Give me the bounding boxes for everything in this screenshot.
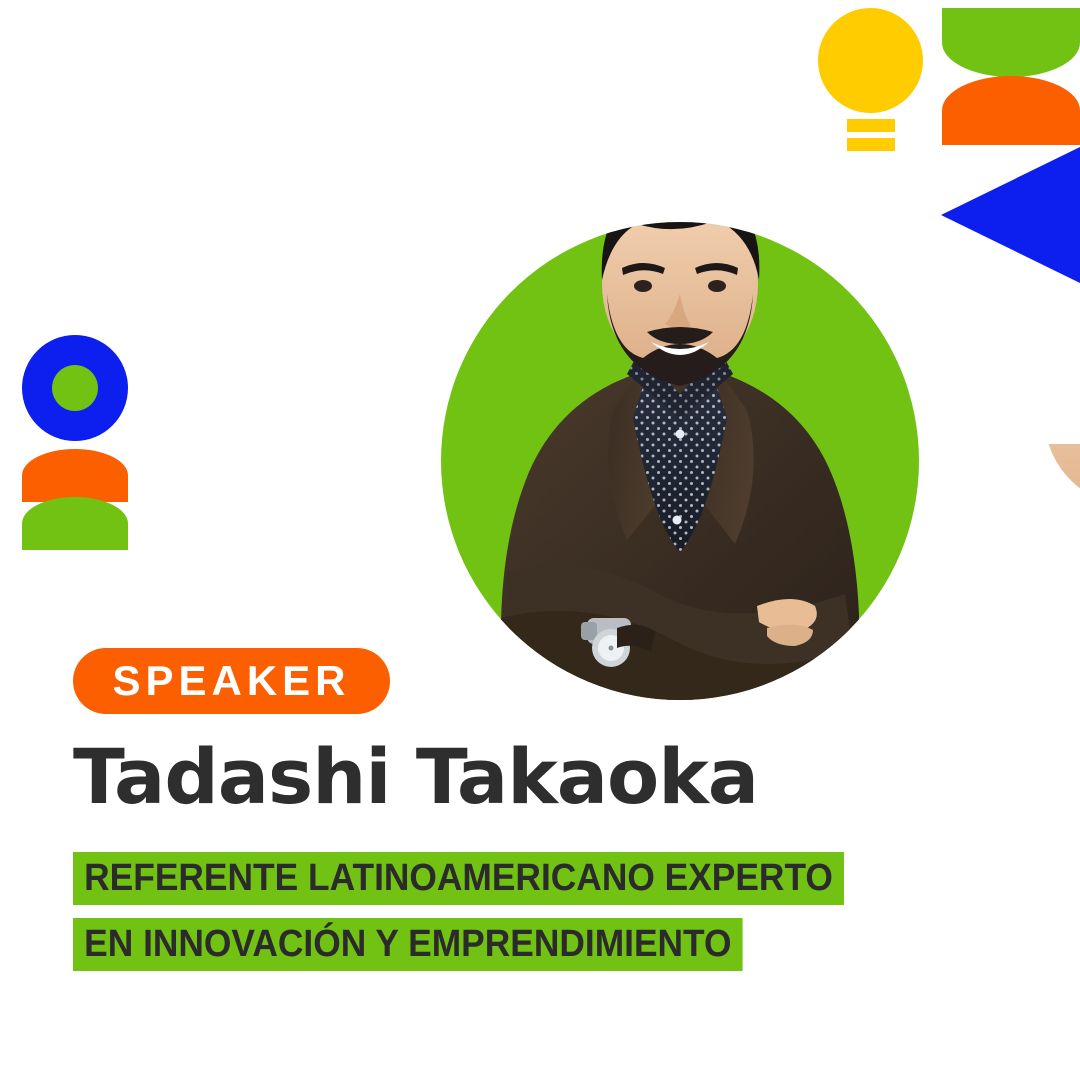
- orange-half-disc-shape: [942, 76, 1080, 145]
- person-green-dome-shape: [22, 497, 128, 550]
- person-orange-dome-shape: [22, 449, 128, 502]
- green-half-disc-shape: [942, 8, 1080, 77]
- speaker-subtitle: REFERENTE LATINOAMERICANO EXPERTO EN INN…: [73, 852, 902, 971]
- person-ring-center-shape: [52, 365, 98, 411]
- portrait-image-clipped: [441, 222, 919, 700]
- lightbulb-bar-top-icon: [847, 119, 895, 132]
- speaker-badge: SPEAKER: [73, 648, 390, 714]
- speaker-name: Tadashi Takaoka: [73, 737, 758, 817]
- subtitle-line-1: REFERENTE LATINOAMERICANO EXPERTO: [73, 852, 844, 905]
- speaker-portrait: [441, 222, 919, 700]
- speaker-poster: SPEAKER Tadashi Takaoka REFERENTE LATINO…: [0, 0, 1080, 1080]
- subtitle-line-2: EN INNOVACIÓN Y EMPRENDIMIENTO: [73, 918, 743, 971]
- blue-triangle-shape: [941, 147, 1080, 283]
- lightbulb-circle-icon: [818, 8, 923, 113]
- lightbulb-bar-bottom-icon: [847, 138, 895, 151]
- speaker-badge-label: SPEAKER: [112, 660, 350, 702]
